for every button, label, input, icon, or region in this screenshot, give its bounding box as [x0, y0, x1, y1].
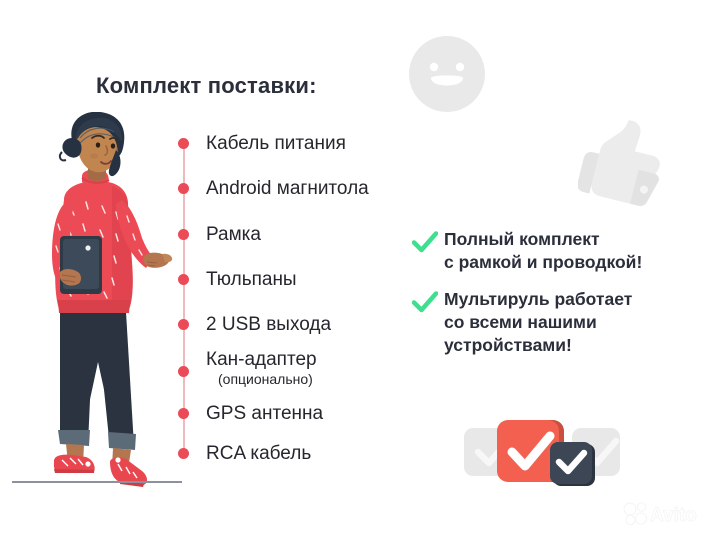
woman-illustration — [16, 112, 176, 487]
list-item-label: 2 USB выхода — [206, 313, 331, 337]
avito-watermark: Avito — [622, 500, 708, 526]
list-item-label: Кан-адаптер — [206, 348, 317, 372]
bullet-dot-icon — [178, 319, 189, 330]
bullet-dot-icon — [178, 183, 189, 194]
ground-line — [12, 481, 182, 483]
list-item-label: RCA кабель — [206, 442, 311, 466]
benefit-item: Полный комплект с рамкой и проводкой! — [412, 228, 702, 274]
benefit-item: Мультируль работает со всеми нашими устр… — [412, 288, 702, 357]
smiley-face-icon — [407, 34, 487, 114]
checkbox-dark — [550, 442, 595, 486]
avito-wordmark: Avito — [650, 505, 697, 526]
bullet-dot-icon — [178, 274, 189, 285]
list-item-label: Android магнитола — [206, 177, 369, 201]
bullet-dot-icon — [178, 229, 189, 240]
tablet — [60, 236, 102, 294]
benefit-text: Мультируль работает со всеми нашими устр… — [444, 288, 702, 357]
bullet-dot-icon — [178, 366, 189, 377]
green-check-icon — [412, 290, 438, 314]
page-title: Комплект поставки: — [96, 73, 317, 99]
list-item-label: GPS антенна — [206, 402, 323, 426]
list-item-label: Тюльпаны — [206, 268, 297, 292]
bullet-dot-icon — [178, 408, 189, 419]
list-item-label: Кабель питания — [206, 132, 346, 156]
bullet-dot-icon — [178, 448, 189, 459]
checkbox-badge-group — [462, 412, 622, 490]
list-item-sublabel: (опционально) — [218, 370, 313, 388]
list-item-label: Рамка — [206, 223, 261, 247]
green-check-icon — [412, 230, 438, 254]
bullet-dot-icon — [178, 138, 189, 149]
benefits-list: Полный комплект с рамкой и проводкой! Му… — [412, 228, 702, 371]
promo-card: Комплект поставки: Кабель питания Androi… — [0, 0, 720, 540]
left-shoe — [54, 455, 95, 473]
benefit-text: Полный комплект с рамкой и проводкой! — [444, 228, 702, 274]
thumbs-up-icon — [578, 112, 670, 212]
